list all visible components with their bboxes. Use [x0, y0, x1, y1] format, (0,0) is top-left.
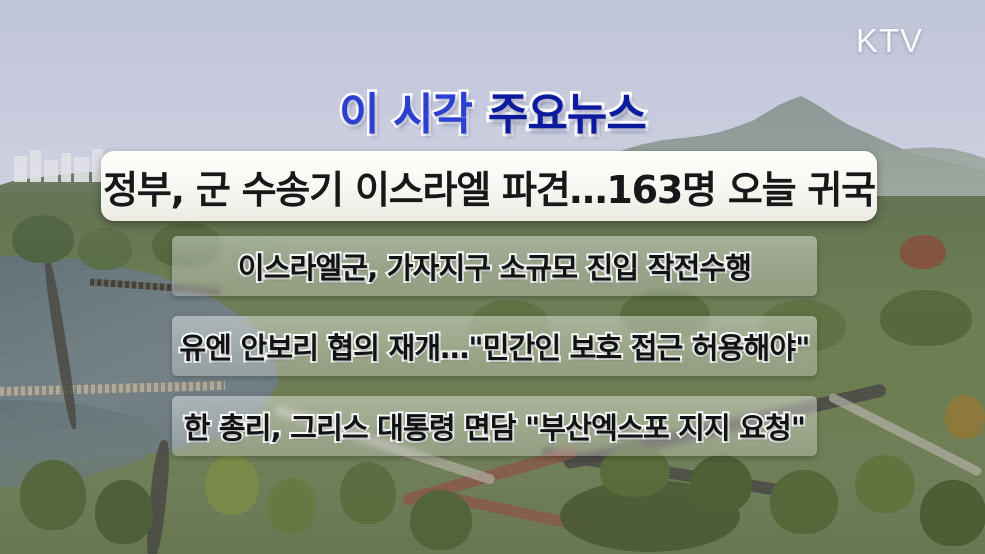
headline-item-3-text: 한 총리, 그리스 대통령 면담 "부산엑스포 지지 요청": [184, 405, 806, 447]
headline-item-1-text: 이스라엘군, 가자지구 소규모 진입 작전수행: [238, 245, 751, 287]
headline-item-3: 한 총리, 그리스 대통령 면담 "부산엑스포 지지 요청": [172, 396, 817, 456]
headline-item-1: 이스라엘군, 가자지구 소규모 진입 작전수행: [172, 236, 817, 296]
program-title: 이 시각주요뉴스: [0, 78, 985, 142]
tree-clump: [340, 462, 396, 524]
tree-clump: [855, 455, 915, 513]
tree-clump: [880, 290, 972, 346]
tree-clump: [78, 228, 132, 270]
tree-clump: [410, 490, 472, 550]
tree-clump-autumn: [945, 395, 985, 439]
tree-clump: [205, 455, 259, 515]
lead-headline-text: 정부, 군 수송기 이스라엘 파견…163명 오늘 귀국: [103, 159, 875, 214]
tree-clump: [20, 460, 86, 530]
program-title-prefix: 이 시각: [339, 89, 472, 140]
headline-item-2: 유엔 안보리 협의 재개…"민간인 보호 접근 허용해야": [172, 316, 817, 376]
program-title-main: 주요뉴스: [488, 89, 646, 140]
tree-clump: [12, 215, 74, 263]
channel-logo-ktv: KTV: [856, 22, 923, 60]
tree-clump-autumn: [900, 235, 946, 269]
headline-item-2-text: 유엔 안보리 협의 재개…"민간인 보호 접근 허용해야": [179, 325, 809, 367]
tree-clump: [268, 478, 316, 534]
tree-clump: [95, 480, 153, 544]
lead-headline-banner: 정부, 군 수송기 이스라엘 파견…163명 오늘 귀국: [101, 151, 877, 221]
tree-clump: [770, 470, 838, 534]
tree-clump: [690, 455, 752, 513]
tree-clump: [920, 480, 985, 546]
broadcast-frame: KTV 이 시각주요뉴스 정부, 군 수송기 이스라엘 파견…163명 오늘 귀…: [0, 0, 985, 554]
